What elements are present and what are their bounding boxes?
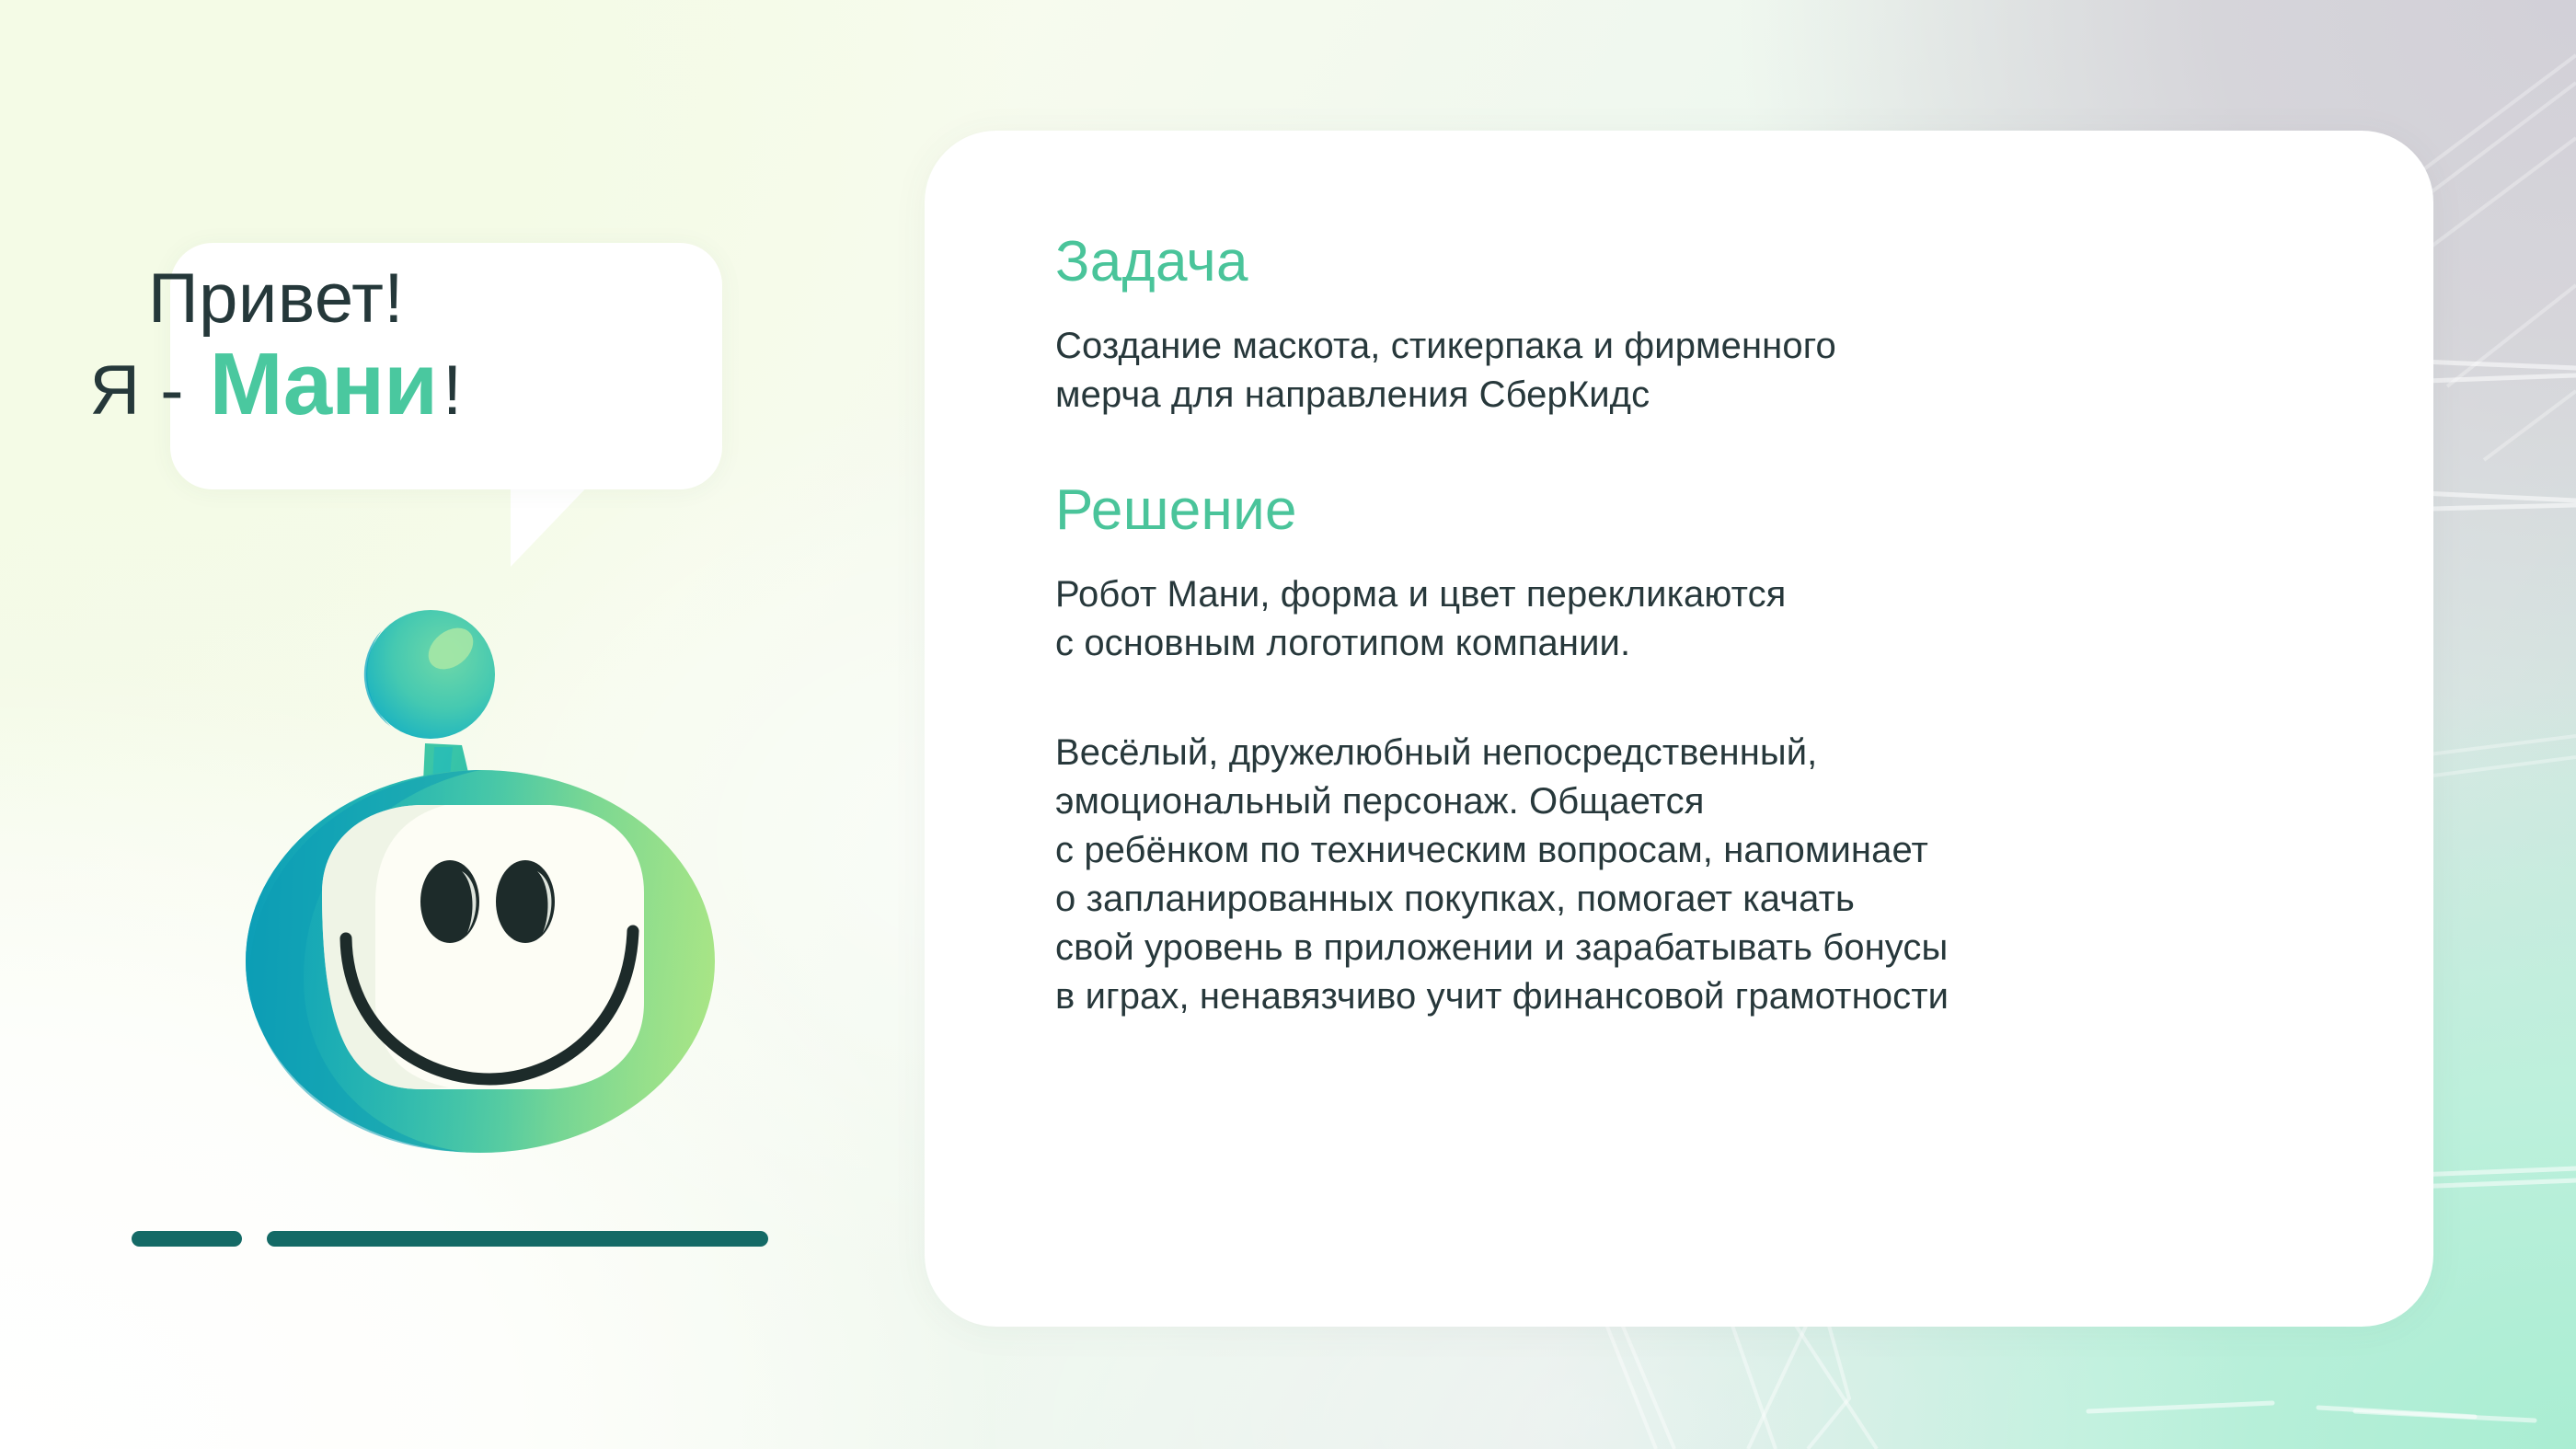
section-task-body: Создание маскота, стикерпака и фирменног…	[1055, 322, 2433, 420]
description-line-3: с ребёнком по техническим вопросам, напо…	[1055, 826, 2433, 875]
section-solution: Решение Робот Мани, форма и цвет перекли…	[1055, 478, 2433, 668]
task-line-2: мерча для направления СберКидс	[1055, 371, 2433, 420]
speech-bubble-line-greeting: Привет!	[0, 259, 552, 339]
section-solution-heading: Решение	[1055, 478, 2433, 543]
slide-root: Привет! Я - Мани!	[0, 0, 2576, 1449]
task-line-1: Создание маскота, стикерпака и фирменног…	[1055, 322, 2433, 371]
description-line-6: в играх, ненавязчиво учит финансовой гра…	[1055, 972, 2433, 1021]
spacer-task-solution	[1055, 420, 2433, 478]
section-description: Весёлый, дружелюбный непосредственный, э…	[1055, 729, 2433, 1021]
description-line-2: эмоциональный персонаж. Общается	[1055, 777, 2433, 826]
speech-bubble-line-name: Я - Мани!	[0, 339, 552, 437]
mascot-mani	[221, 543, 736, 1260]
mascot-eye-right	[496, 860, 555, 943]
speech-bubble-prefix: Я -	[89, 351, 203, 430]
description-line-4: о запланированных покупках, помогает кач…	[1055, 875, 2433, 924]
mascot-antenna-ball	[366, 610, 495, 739]
ground-line-long	[267, 1231, 768, 1247]
section-task-heading: Задача	[1055, 230, 2433, 294]
description-line-5: свой уровень в приложении и зарабатывать…	[1055, 924, 2433, 972]
description-line-1: Весёлый, дружелюбный непосредственный,	[1055, 729, 2433, 777]
solution-line-2: с основным логотипом компании.	[1055, 619, 2433, 668]
ground-line-short	[132, 1231, 242, 1247]
content-card: Задача Создание маскота, стикерпака и фи…	[925, 131, 2433, 1327]
solution-line-1: Робот Мани, форма и цвет перекликаются	[1055, 570, 2433, 619]
section-task: Задача Создание маскота, стикерпака и фи…	[1055, 230, 2433, 420]
speech-bubble-mascot-name: Мани	[204, 335, 443, 433]
spacer-solution-description	[1055, 668, 2433, 729]
section-solution-body: Робот Мани, форма и цвет перекликаются с…	[1055, 570, 2433, 668]
speech-bubble-suffix: !	[443, 351, 463, 430]
mascot-eye-left	[420, 860, 479, 943]
